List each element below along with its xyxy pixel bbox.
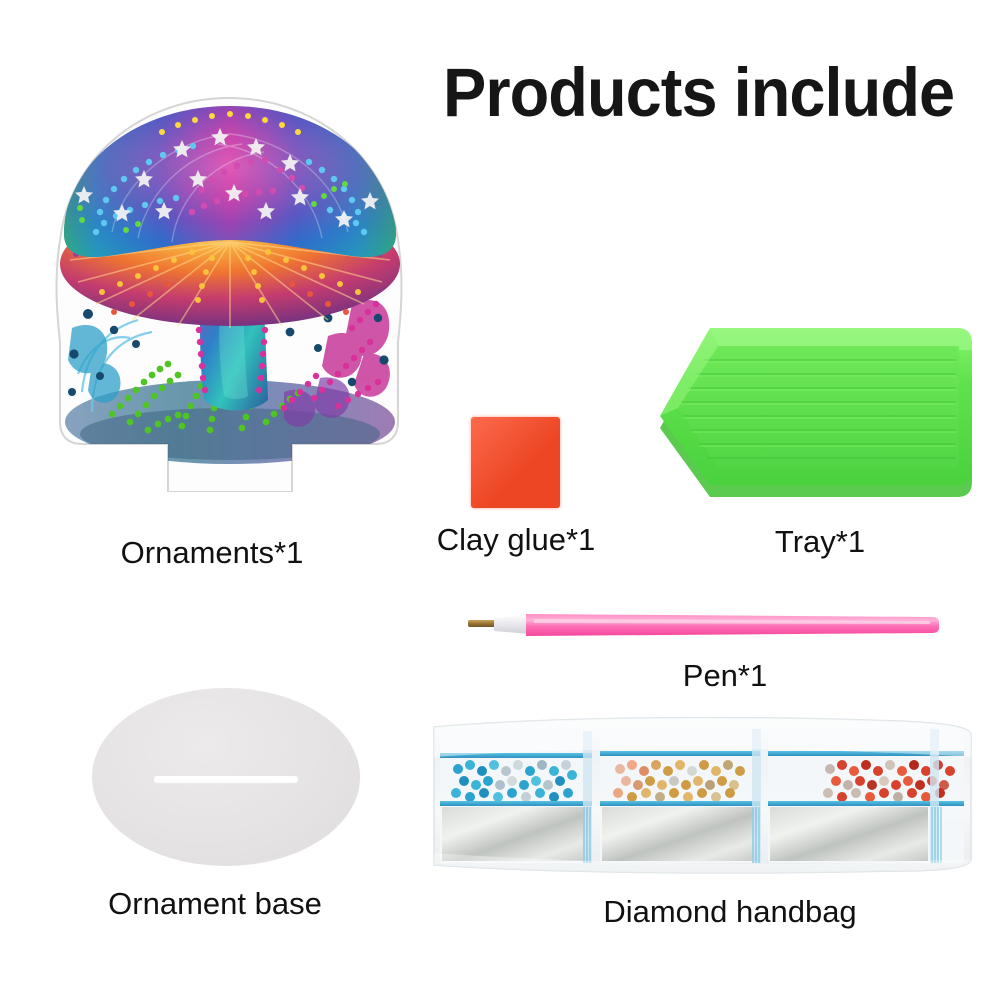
product-contents-image: Products include [0, 0, 1001, 1001]
diamond-handbag [428, 713, 976, 877]
pen-label: Pen*1 [605, 658, 845, 694]
drill-pen-icon [468, 608, 940, 642]
diamond-tray [652, 316, 977, 511]
ornament-label: Ornaments*1 [52, 535, 372, 571]
oval-stand-base [92, 688, 360, 866]
diamond-handbag-label: Diamond handbag [580, 894, 880, 930]
pen-barrel [526, 614, 939, 636]
ornament-base-label: Ornament base [95, 886, 335, 922]
mushroom-ornament-standee [52, 92, 407, 492]
base-slot [154, 776, 299, 782]
page-title: Products include [443, 58, 954, 127]
pen-tip [468, 620, 496, 627]
foil-label [442, 807, 590, 861]
foil-label [602, 807, 758, 861]
diamond-tray-icon [652, 316, 977, 511]
foil-label [770, 807, 928, 861]
pen-ferrule [494, 615, 530, 634]
clay-glue-square [471, 417, 560, 508]
diamond-handbag-icon [428, 713, 976, 877]
clay-glue-label: Clay glue*1 [396, 522, 636, 558]
tray-label: Tray*1 [700, 524, 940, 560]
mushroom-ornament-icon [52, 92, 407, 492]
drill-pen [468, 608, 940, 642]
